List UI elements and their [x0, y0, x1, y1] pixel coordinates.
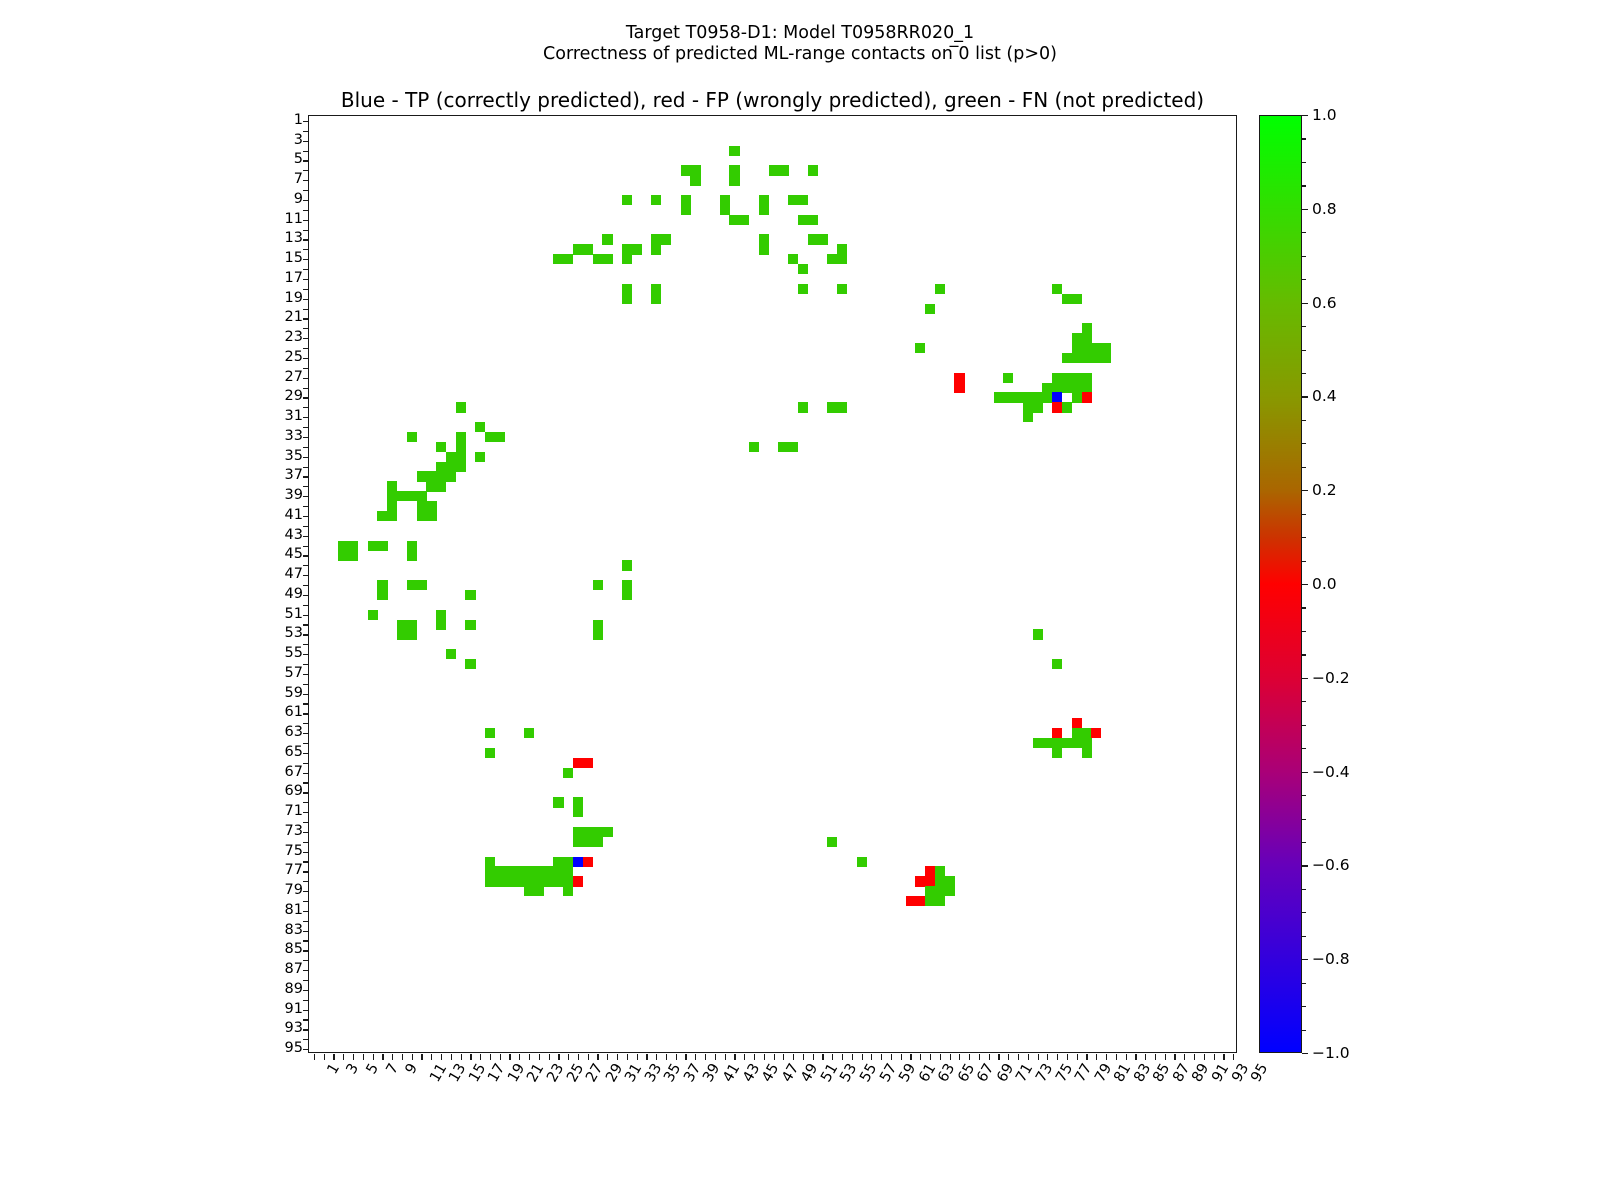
contact-cell: [593, 580, 603, 590]
y-axis-tick-label: 57: [285, 665, 308, 681]
contact-cell: [729, 215, 739, 225]
contact-cell: [935, 886, 945, 896]
colorbar-minor-tick: [1302, 185, 1306, 186]
y-axis-tick-label: 25: [285, 349, 308, 365]
y-axis-tick-label: 29: [285, 388, 308, 404]
contact-cell: [1082, 383, 1092, 393]
contact-cell: [407, 432, 417, 442]
y-axis-tick-label: 23: [285, 329, 308, 345]
y-axis-tick-label: 75: [285, 843, 308, 859]
y-axis-tick-label: 83: [285, 922, 308, 938]
x-axis-tick-label: 5: [364, 1061, 382, 1077]
contact-cell: [495, 432, 505, 442]
contact-cell: [1062, 402, 1072, 412]
contact-cell: [524, 886, 534, 896]
contact-cell: [651, 284, 661, 294]
contact-cell: [837, 254, 847, 264]
y-axis-tick-label: 93: [285, 1020, 308, 1036]
contact-cell: [505, 876, 515, 886]
contact-cell: [1052, 383, 1062, 393]
contact-cell: [1033, 629, 1043, 639]
x-axis-tick-label: 7: [383, 1061, 401, 1077]
contact-cell: [720, 195, 730, 205]
x-axis-tick-label: 91: [1209, 1061, 1232, 1085]
contact-cell: [651, 294, 661, 304]
contact-cell: [788, 442, 798, 452]
contact-cell: [456, 452, 466, 462]
colorbar-minor-tick: [1302, 350, 1306, 351]
y-axis-tick-label: 1: [294, 112, 308, 128]
contact-cell: [1003, 392, 1013, 402]
contact-cell: [563, 866, 573, 876]
y-axis-tick-label: 7: [294, 171, 308, 187]
contact-cell: [573, 827, 583, 837]
colorbar-tick-label: −0.4: [1312, 763, 1350, 781]
contact-cell: [769, 165, 779, 175]
contact-cell: [553, 857, 563, 867]
contact-cell: [906, 896, 916, 906]
colorbar-minor-tick: [1302, 1006, 1306, 1007]
contact-cell: [798, 284, 808, 294]
colorbar-minor-tick: [1302, 983, 1306, 984]
contact-cell: [593, 620, 603, 630]
contact-cell: [935, 284, 945, 294]
contact-cell: [387, 501, 397, 511]
colorbar-minor-tick: [1302, 443, 1306, 444]
colorbar-minor-tick: [1302, 279, 1306, 280]
contact-cell: [798, 264, 808, 274]
colorbar-tick-label: 0.2: [1312, 481, 1337, 499]
contact-cell: [544, 866, 554, 876]
contact-cell: [622, 195, 632, 205]
colorbar-minor-tick: [1302, 326, 1306, 327]
colorbar-minor-tick: [1302, 373, 1306, 374]
contact-cell: [1072, 718, 1082, 728]
x-axis-tick-label: 37: [681, 1061, 704, 1085]
contact-cell: [1033, 402, 1043, 412]
y-axis-tick-label: 91: [285, 1001, 308, 1017]
contact-cell: [338, 541, 348, 551]
contact-cell: [475, 452, 485, 462]
contact-cell: [1023, 402, 1033, 412]
colorbar-minor-tick: [1302, 232, 1306, 233]
contact-cell: [563, 254, 573, 264]
contact-cell: [593, 629, 603, 639]
colorbar-minor-tick: [1302, 725, 1306, 726]
contact-cell: [514, 876, 524, 886]
contact-cell: [622, 590, 632, 600]
contact-cell: [798, 195, 808, 205]
contact-cell: [925, 304, 935, 314]
colorbar-minor-tick: [1302, 701, 1306, 702]
x-axis-tick-label: 21: [525, 1061, 548, 1085]
y-axis-tick-labels: 1357911131517192123252729313335373941434…: [248, 115, 308, 1053]
y-axis-tick-label: 95: [285, 1040, 308, 1056]
colorbar-minor-tick: [1302, 654, 1306, 655]
contact-cell: [1072, 728, 1082, 738]
colorbar-tick-label: −0.8: [1312, 950, 1350, 968]
contact-cell: [1062, 373, 1072, 383]
contact-cell: [553, 876, 563, 886]
contact-cell: [407, 620, 417, 630]
contact-cell: [573, 244, 583, 254]
colorbar-minor-tick: [1302, 490, 1306, 491]
contact-cell: [788, 254, 798, 264]
contact-cell: [759, 205, 769, 215]
contact-cell: [407, 580, 417, 590]
contact-cell: [407, 550, 417, 560]
y-axis-tick-label: 89: [285, 981, 308, 997]
colorbar-minor-tick: [1302, 748, 1306, 749]
contact-cell: [808, 215, 818, 225]
colorbar-minor-tick: [1302, 514, 1306, 515]
contact-cell: [465, 590, 475, 600]
contact-cell: [407, 491, 417, 501]
contact-cell: [827, 837, 837, 847]
contact-cell: [417, 511, 427, 521]
contact-cell: [1062, 294, 1072, 304]
contact-cell: [573, 857, 583, 867]
contact-cell: [1082, 373, 1092, 383]
y-axis-tick-label: 15: [285, 250, 308, 266]
contact-cell: [1082, 353, 1092, 363]
contact-cell: [994, 392, 1004, 402]
colorbar-tick-label: 1.0: [1312, 106, 1337, 124]
contact-cell: [945, 886, 955, 896]
contact-cell: [1033, 392, 1043, 402]
contact-cell: [563, 857, 573, 867]
colorbar-minor-tick: [1302, 865, 1306, 866]
x-axis-tick-label: 55: [857, 1061, 880, 1085]
contact-cell: [729, 175, 739, 185]
contact-cell: [1072, 392, 1082, 402]
colorbar-tick-label: −0.6: [1312, 856, 1350, 874]
x-axis-tick-label: 39: [701, 1061, 724, 1085]
contact-cell: [485, 866, 495, 876]
contact-cell: [1062, 353, 1072, 363]
colorbar-tick-label: −1.0: [1312, 1044, 1350, 1062]
colorbar-minor-tick: [1302, 936, 1306, 937]
contact-cell: [417, 580, 427, 590]
contact-cell: [1072, 738, 1082, 748]
colorbar-tick-labels: 1.00.80.60.40.20.0−0.2−0.4−0.6−0.8−1.0: [1302, 115, 1362, 1053]
y-axis-tick-label: 11: [285, 211, 308, 227]
contact-cell: [1101, 353, 1111, 363]
contact-cell: [788, 195, 798, 205]
x-axis-tick-label: 53: [838, 1061, 861, 1085]
contact-cell: [798, 402, 808, 412]
contact-map-plot[interactable]: [308, 115, 1237, 1053]
colorbar-tick-label: −0.2: [1312, 669, 1350, 687]
x-axis-tick-label: 59: [896, 1061, 919, 1085]
contact-cell: [935, 896, 945, 906]
y-axis-tick-label: 21: [285, 309, 308, 325]
contact-cell: [534, 866, 544, 876]
x-axis-tick-label: 9: [403, 1061, 421, 1077]
contact-cell: [1072, 383, 1082, 393]
colorbar-minor-tick: [1302, 303, 1306, 304]
contact-cell: [485, 728, 495, 738]
contact-cell: [524, 876, 534, 886]
y-axis-tick-label: 17: [285, 270, 308, 286]
contact-cell: [759, 195, 769, 205]
colorbar-tick-label: 0.0: [1312, 575, 1337, 593]
colorbar-minor-tick: [1302, 842, 1306, 843]
colorbar-minor-tick: [1302, 819, 1306, 820]
contact-cell: [407, 541, 417, 551]
contact-cell: [935, 866, 945, 876]
colorbar-minor-tick: [1302, 209, 1306, 210]
contact-cell: [1072, 294, 1082, 304]
contact-cell: [505, 866, 515, 876]
contact-cell: [915, 343, 925, 353]
colorbar-minor-tick: [1302, 256, 1306, 257]
contact-cell: [1062, 738, 1072, 748]
contact-cell: [729, 146, 739, 156]
contact-cell: [426, 481, 436, 491]
contact-cell: [945, 876, 955, 886]
contact-cell: [524, 728, 534, 738]
x-axis-tick-label: 95: [1248, 1061, 1271, 1085]
contact-cell: [1042, 383, 1052, 393]
x-axis-tick-label: 29: [603, 1061, 626, 1085]
y-axis-tick-label: 3: [294, 132, 308, 148]
y-axis-tick-label: 85: [285, 941, 308, 957]
y-axis-tick-label: 27: [285, 369, 308, 385]
y-axis-tick-label: 33: [285, 428, 308, 444]
x-axis-tick-label: 17: [486, 1061, 509, 1085]
contact-cell: [632, 244, 642, 254]
contact-cell: [602, 827, 612, 837]
contact-cell: [808, 234, 818, 244]
contact-cell: [485, 432, 495, 442]
contact-cell: [377, 590, 387, 600]
y-axis-tick-label: 55: [285, 645, 308, 661]
contact-cell: [456, 442, 466, 452]
y-axis-tick-label: 65: [285, 744, 308, 760]
contact-cell: [925, 896, 935, 906]
x-axis-tick-label: 3: [344, 1061, 362, 1077]
colorbar-minor-tick: [1302, 1053, 1306, 1054]
x-axis-tick-label: 57: [877, 1061, 900, 1085]
y-axis-tick-label: 81: [285, 902, 308, 918]
y-axis-tick-label: 63: [285, 724, 308, 740]
x-axis-tick-label: 43: [740, 1061, 763, 1085]
contact-cell: [818, 234, 828, 244]
y-axis-tick-label: 71: [285, 803, 308, 819]
contact-cell: [426, 511, 436, 521]
contact-cell: [465, 659, 475, 669]
x-axis-tick-label: 33: [642, 1061, 665, 1085]
contact-cell: [544, 876, 554, 886]
contact-cell: [1091, 343, 1101, 353]
contact-cell: [808, 165, 818, 175]
x-axis-tick-label: 81: [1111, 1061, 1134, 1085]
x-axis-tick-label: 73: [1033, 1061, 1056, 1085]
contact-cell: [1072, 353, 1082, 363]
x-axis-tick-label: 23: [544, 1061, 567, 1085]
contact-cell: [837, 402, 847, 412]
contact-cell: [681, 195, 691, 205]
colorbar-minor-tick: [1302, 396, 1306, 397]
contact-cell: [417, 491, 427, 501]
contact-cell: [690, 175, 700, 185]
contact-cell: [925, 866, 935, 876]
contact-cell: [573, 797, 583, 807]
contact-cell: [495, 866, 505, 876]
contact-cell: [1091, 353, 1101, 363]
contact-cell: [485, 857, 495, 867]
contact-cell-layer: [309, 116, 1236, 1052]
x-axis-tick-label: 15: [466, 1061, 489, 1085]
contact-cell: [1042, 738, 1052, 748]
contact-cell: [1062, 383, 1072, 393]
contact-cell: [407, 629, 417, 639]
x-axis-tick-label: 31: [622, 1061, 645, 1085]
x-axis-tick-label: 85: [1151, 1061, 1174, 1085]
contact-cell: [446, 471, 456, 481]
contact-cell: [1052, 728, 1062, 738]
contact-cell: [417, 471, 427, 481]
colorbar-minor-tick: [1302, 607, 1306, 608]
contact-cell: [377, 580, 387, 590]
colorbar-minor-tick: [1302, 561, 1306, 562]
contact-cell: [925, 886, 935, 896]
y-axis-tick-label: 49: [285, 586, 308, 602]
contact-cell: [387, 481, 397, 491]
contact-cell: [1082, 728, 1092, 738]
y-axis-tick-label: 79: [285, 882, 308, 898]
contact-cell: [720, 205, 730, 215]
contact-cell: [563, 876, 573, 886]
y-axis-tick-label: 73: [285, 823, 308, 839]
contact-cell: [426, 501, 436, 511]
contact-cell: [1091, 728, 1101, 738]
colorbar-minor-tick: [1302, 772, 1306, 773]
colorbar-minor-tick: [1302, 537, 1306, 538]
contact-cell: [729, 165, 739, 175]
colorbar-gradient: [1259, 115, 1302, 1053]
contact-cell: [485, 748, 495, 758]
contact-cell: [622, 294, 632, 304]
contact-cell: [1052, 659, 1062, 669]
y-axis-tick-label: 77: [285, 862, 308, 878]
contact-cell: [1042, 392, 1052, 402]
x-axis-tick-label: 93: [1229, 1061, 1252, 1085]
y-axis-tick-label: 87: [285, 961, 308, 977]
contact-cell: [397, 629, 407, 639]
contact-cell: [456, 402, 466, 412]
contact-cell: [1033, 738, 1043, 748]
colorbar-tick-label: 0.4: [1312, 387, 1337, 405]
colorbar-minor-tick: [1302, 115, 1306, 116]
contact-cell: [436, 442, 446, 452]
colorbar-minor-tick: [1302, 584, 1306, 585]
contact-cell: [436, 471, 446, 481]
contact-cell: [534, 886, 544, 896]
figure-suptitle-line2: Correctness of predicted ML-range contac…: [0, 43, 1600, 66]
contact-cell: [368, 541, 378, 551]
contact-cell: [436, 462, 446, 472]
contact-cell: [661, 234, 671, 244]
contact-cell: [485, 876, 495, 886]
x-axis-tick-label: 89: [1190, 1061, 1213, 1085]
contact-cell: [1052, 738, 1062, 748]
x-axis-tick-label: 1: [324, 1061, 342, 1077]
contact-cell: [593, 254, 603, 264]
colorbar-minor-tick: [1302, 162, 1306, 163]
contact-cell: [915, 876, 925, 886]
x-axis-tick-label: 67: [975, 1061, 998, 1085]
x-axis-tick-label: 41: [720, 1061, 743, 1085]
colorbar-minor-tick: [1302, 889, 1306, 890]
contact-cell: [417, 501, 427, 511]
colorbar-minor-tick: [1302, 420, 1306, 421]
contact-cell: [426, 471, 436, 481]
contact-cell: [563, 768, 573, 778]
y-axis-tick-label: 37: [285, 467, 308, 483]
contact-cell: [690, 165, 700, 175]
contact-cell: [1082, 343, 1092, 353]
x-axis-tick-label: 63: [935, 1061, 958, 1085]
contact-cell: [1082, 323, 1092, 333]
contact-cell: [1023, 392, 1033, 402]
y-axis-tick-label: 47: [285, 566, 308, 582]
contact-cell: [1052, 748, 1062, 758]
contact-cell: [593, 837, 603, 847]
x-axis-tick-label: 19: [505, 1061, 528, 1085]
contact-cell: [524, 866, 534, 876]
x-axis-tick-label: 65: [955, 1061, 978, 1085]
x-axis-tick-label: 83: [1131, 1061, 1154, 1085]
colorbar-minor-tick: [1302, 959, 1306, 960]
contact-cell: [602, 234, 612, 244]
contact-cell: [1013, 392, 1023, 402]
contact-cell: [681, 205, 691, 215]
contact-cell: [387, 491, 397, 501]
contact-cell: [622, 284, 632, 294]
contact-cell: [837, 244, 847, 254]
contact-cell: [436, 610, 446, 620]
y-axis-tick-label: 39: [285, 487, 308, 503]
contact-cell: [759, 234, 769, 244]
contact-cell: [651, 195, 661, 205]
contact-cell: [1052, 392, 1062, 402]
colorbar-minor-tick: [1302, 631, 1306, 632]
contact-cell: [593, 827, 603, 837]
x-axis-tick-label: 75: [1053, 1061, 1076, 1085]
contact-cell: [827, 254, 837, 264]
contact-cell: [739, 215, 749, 225]
contact-cell: [1052, 284, 1062, 294]
figure-root: Target T0958-D1: Model T0958RR020_1 Corr…: [0, 0, 1600, 1200]
contact-cell: [827, 402, 837, 412]
x-axis-tick-label: 11: [427, 1061, 450, 1085]
contact-cell: [915, 896, 925, 906]
contact-cell: [1072, 343, 1082, 353]
contact-cell: [925, 876, 935, 886]
x-axis-tick-label: 69: [994, 1061, 1017, 1085]
contact-cell: [553, 797, 563, 807]
contact-cell: [377, 511, 387, 521]
y-axis-tick-label: 67: [285, 764, 308, 780]
contact-cell: [651, 244, 661, 254]
contact-cell: [348, 541, 358, 551]
contact-cell: [622, 560, 632, 570]
x-axis-tick-label: 35: [662, 1061, 685, 1085]
contact-cell: [563, 886, 573, 896]
x-axis-tick-label: 47: [779, 1061, 802, 1085]
